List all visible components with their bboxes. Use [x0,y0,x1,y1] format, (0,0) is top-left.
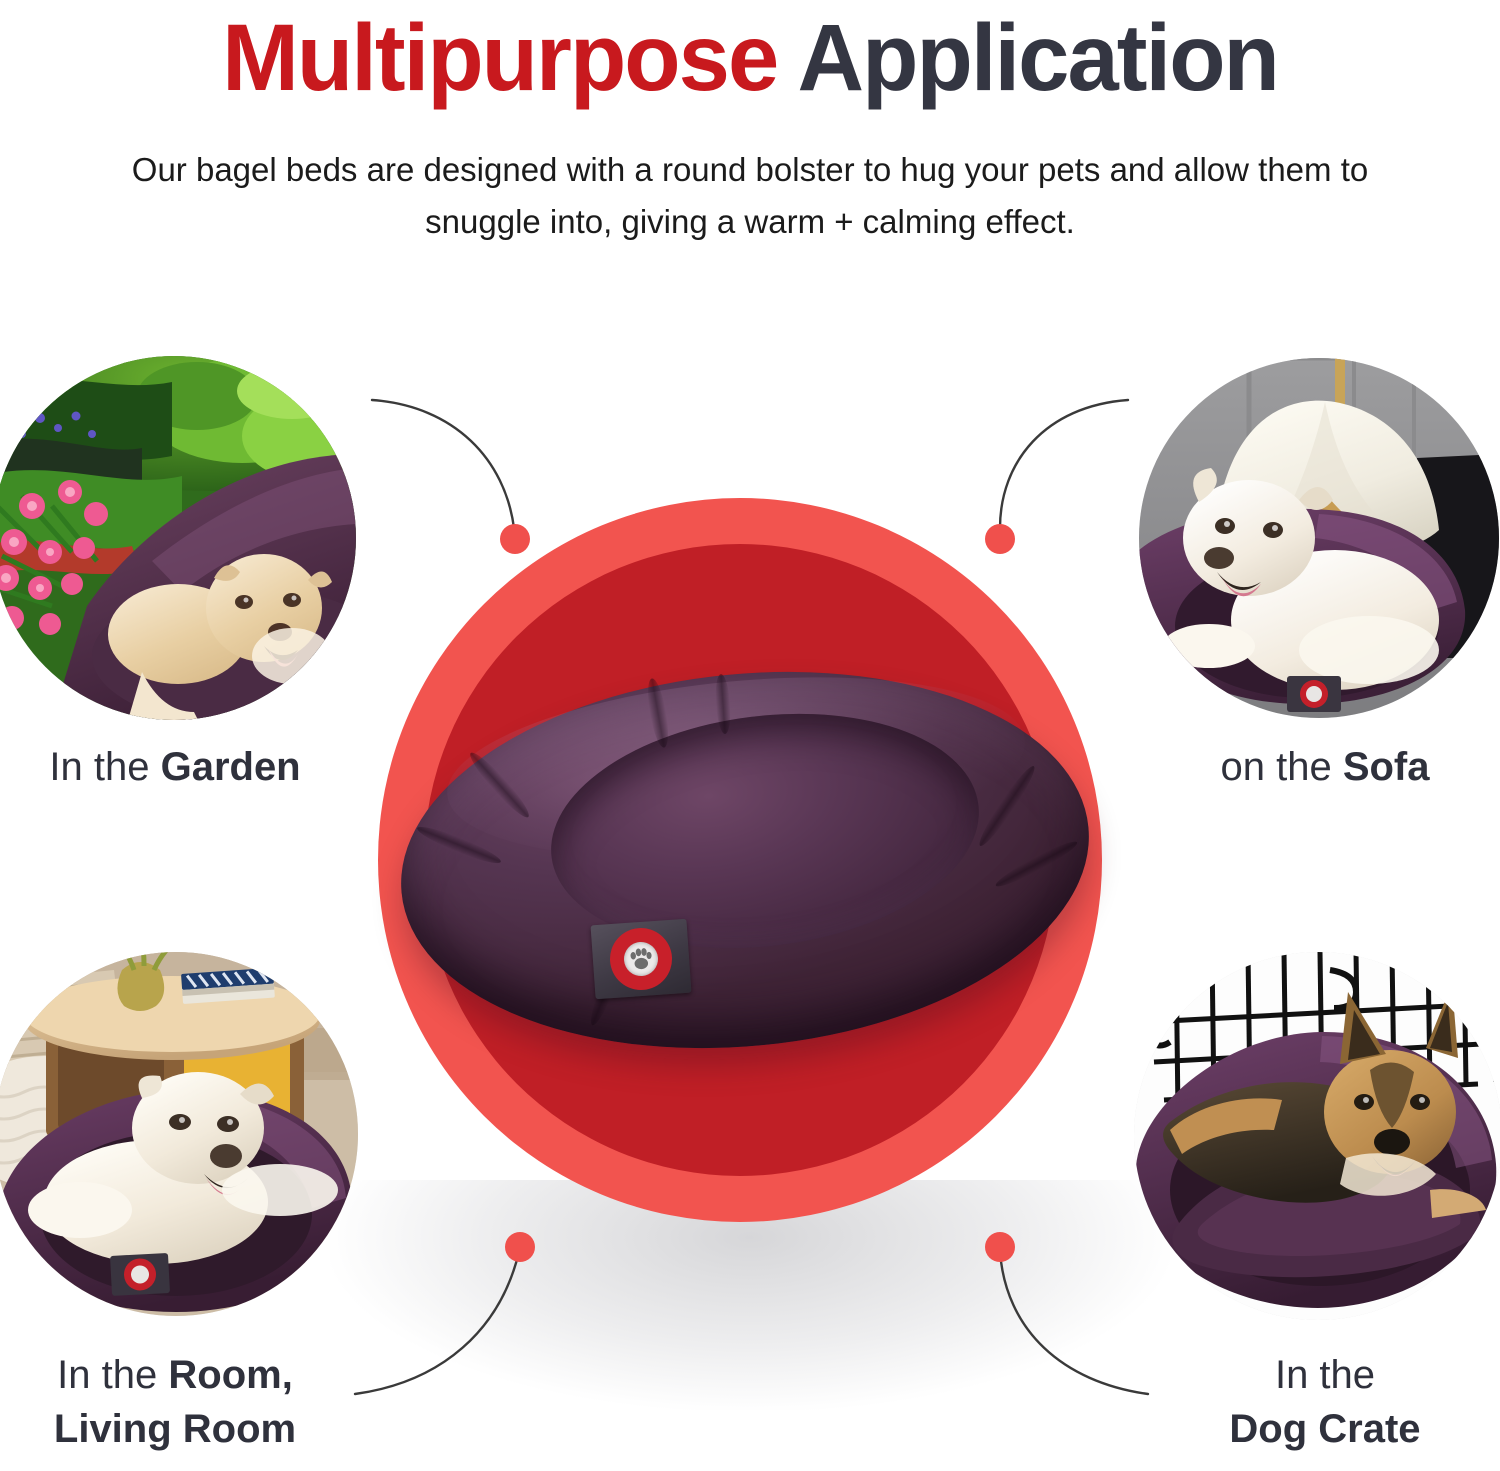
connector-dot-garden [500,524,530,554]
callout-caption-living-room-prefix: In the [57,1353,168,1397]
callout-caption-dog-crate-prefix: In the [1275,1353,1375,1397]
paw-print-icon [625,943,657,975]
callout-photo-dog-crate [1134,952,1500,1320]
callout-caption-sofa-emphasis: Sofa [1343,745,1430,789]
callout-caption-living-room: In the Room, Living Room [0,1348,350,1456]
callout-caption-sofa-prefix: on the [1220,745,1342,789]
connector-line-living-room [355,1252,519,1394]
connector-dot-dog-crate [985,1232,1015,1262]
hero-bagel-bed [400,650,1090,1080]
callout-caption-living-room-line2: Living Room [54,1407,296,1451]
connector-line-dog-crate [1000,1252,1148,1394]
callout-photo-sofa [1139,358,1499,718]
callout-photo-living-room [0,952,358,1316]
hero-product-stage [378,498,1102,1222]
connector-dot-living-room [505,1232,535,1262]
brand-label [591,919,692,1000]
header: Multipurpose Application Our bagel beds … [0,0,1500,248]
callout-photo-garden [0,356,356,720]
callout-caption-garden-prefix: In the [49,745,160,789]
page-title-part-dark: Application [798,5,1278,111]
page-title-part-red: Multipurpose [222,5,777,111]
page-title: Multipurpose Application [23,0,1478,112]
callout-caption-living-room-emphasis: Room, [168,1353,292,1397]
callout-caption-sofa: on the Sofa [1150,740,1500,794]
callout-caption-dog-crate-line2: Dog Crate [1229,1407,1420,1451]
callout-caption-garden-emphasis: Garden [161,745,301,789]
connector-dot-sofa [985,524,1015,554]
callout-caption-garden: In the Garden [0,740,350,794]
callout-caption-dog-crate: In the Dog Crate [1150,1348,1500,1456]
page-subtitle: Our bagel beds are designed with a round… [0,144,1500,248]
